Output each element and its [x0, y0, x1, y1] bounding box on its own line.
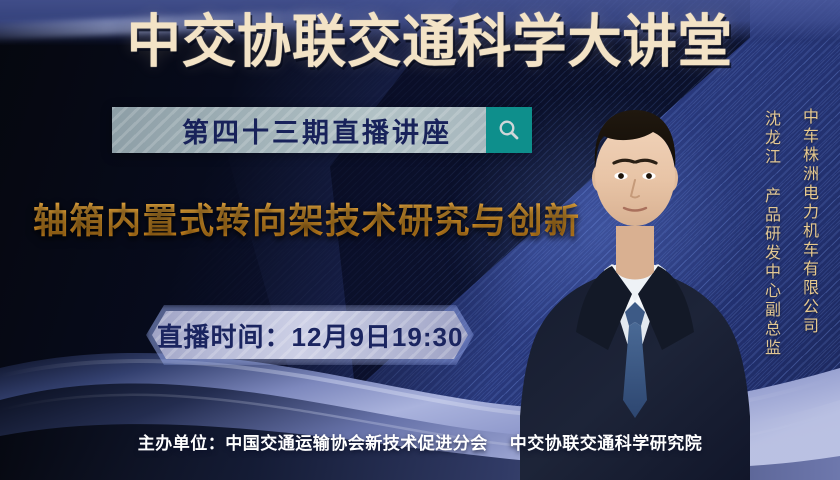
organizer-label: 主办单位：	[138, 434, 226, 453]
live-lecture-poster: 中交协联交通科学大讲堂 第四十三期直播讲座 轴箱内置式转向架技术研究与创新	[0, 0, 840, 480]
search-button[interactable]	[486, 107, 532, 153]
organizer-primary: 中国交通运输协会新技术促进分会	[225, 434, 488, 453]
speaker-company: 中车株洲电力机车有限公司	[797, 108, 820, 336]
search-icon	[497, 118, 521, 142]
page-title: 中交协联交通科学大讲堂	[21, 14, 829, 71]
lecture-title: 轴箱内置式转向架技术研究与创新	[33, 193, 581, 244]
live-time-label: 直播时间：12月9日19:30	[157, 317, 464, 354]
episode-banner-body: 第四十三期直播讲座	[112, 107, 486, 153]
status-badge: 直播时间：12月9日19:30	[152, 311, 468, 359]
episode-banner: 第四十三期直播讲座	[112, 107, 532, 153]
speaker-name-role: 沈龙江 产品研发中心副总监	[759, 110, 782, 358]
footer-organizers: 主办单位：中国交通运输协会新技术促进分会中交协联交通科学研究院	[0, 429, 840, 454]
organizer-secondary: 中交协联交通科学研究院	[510, 434, 703, 453]
episode-label: 第四十三期直播讲座	[146, 111, 452, 150]
